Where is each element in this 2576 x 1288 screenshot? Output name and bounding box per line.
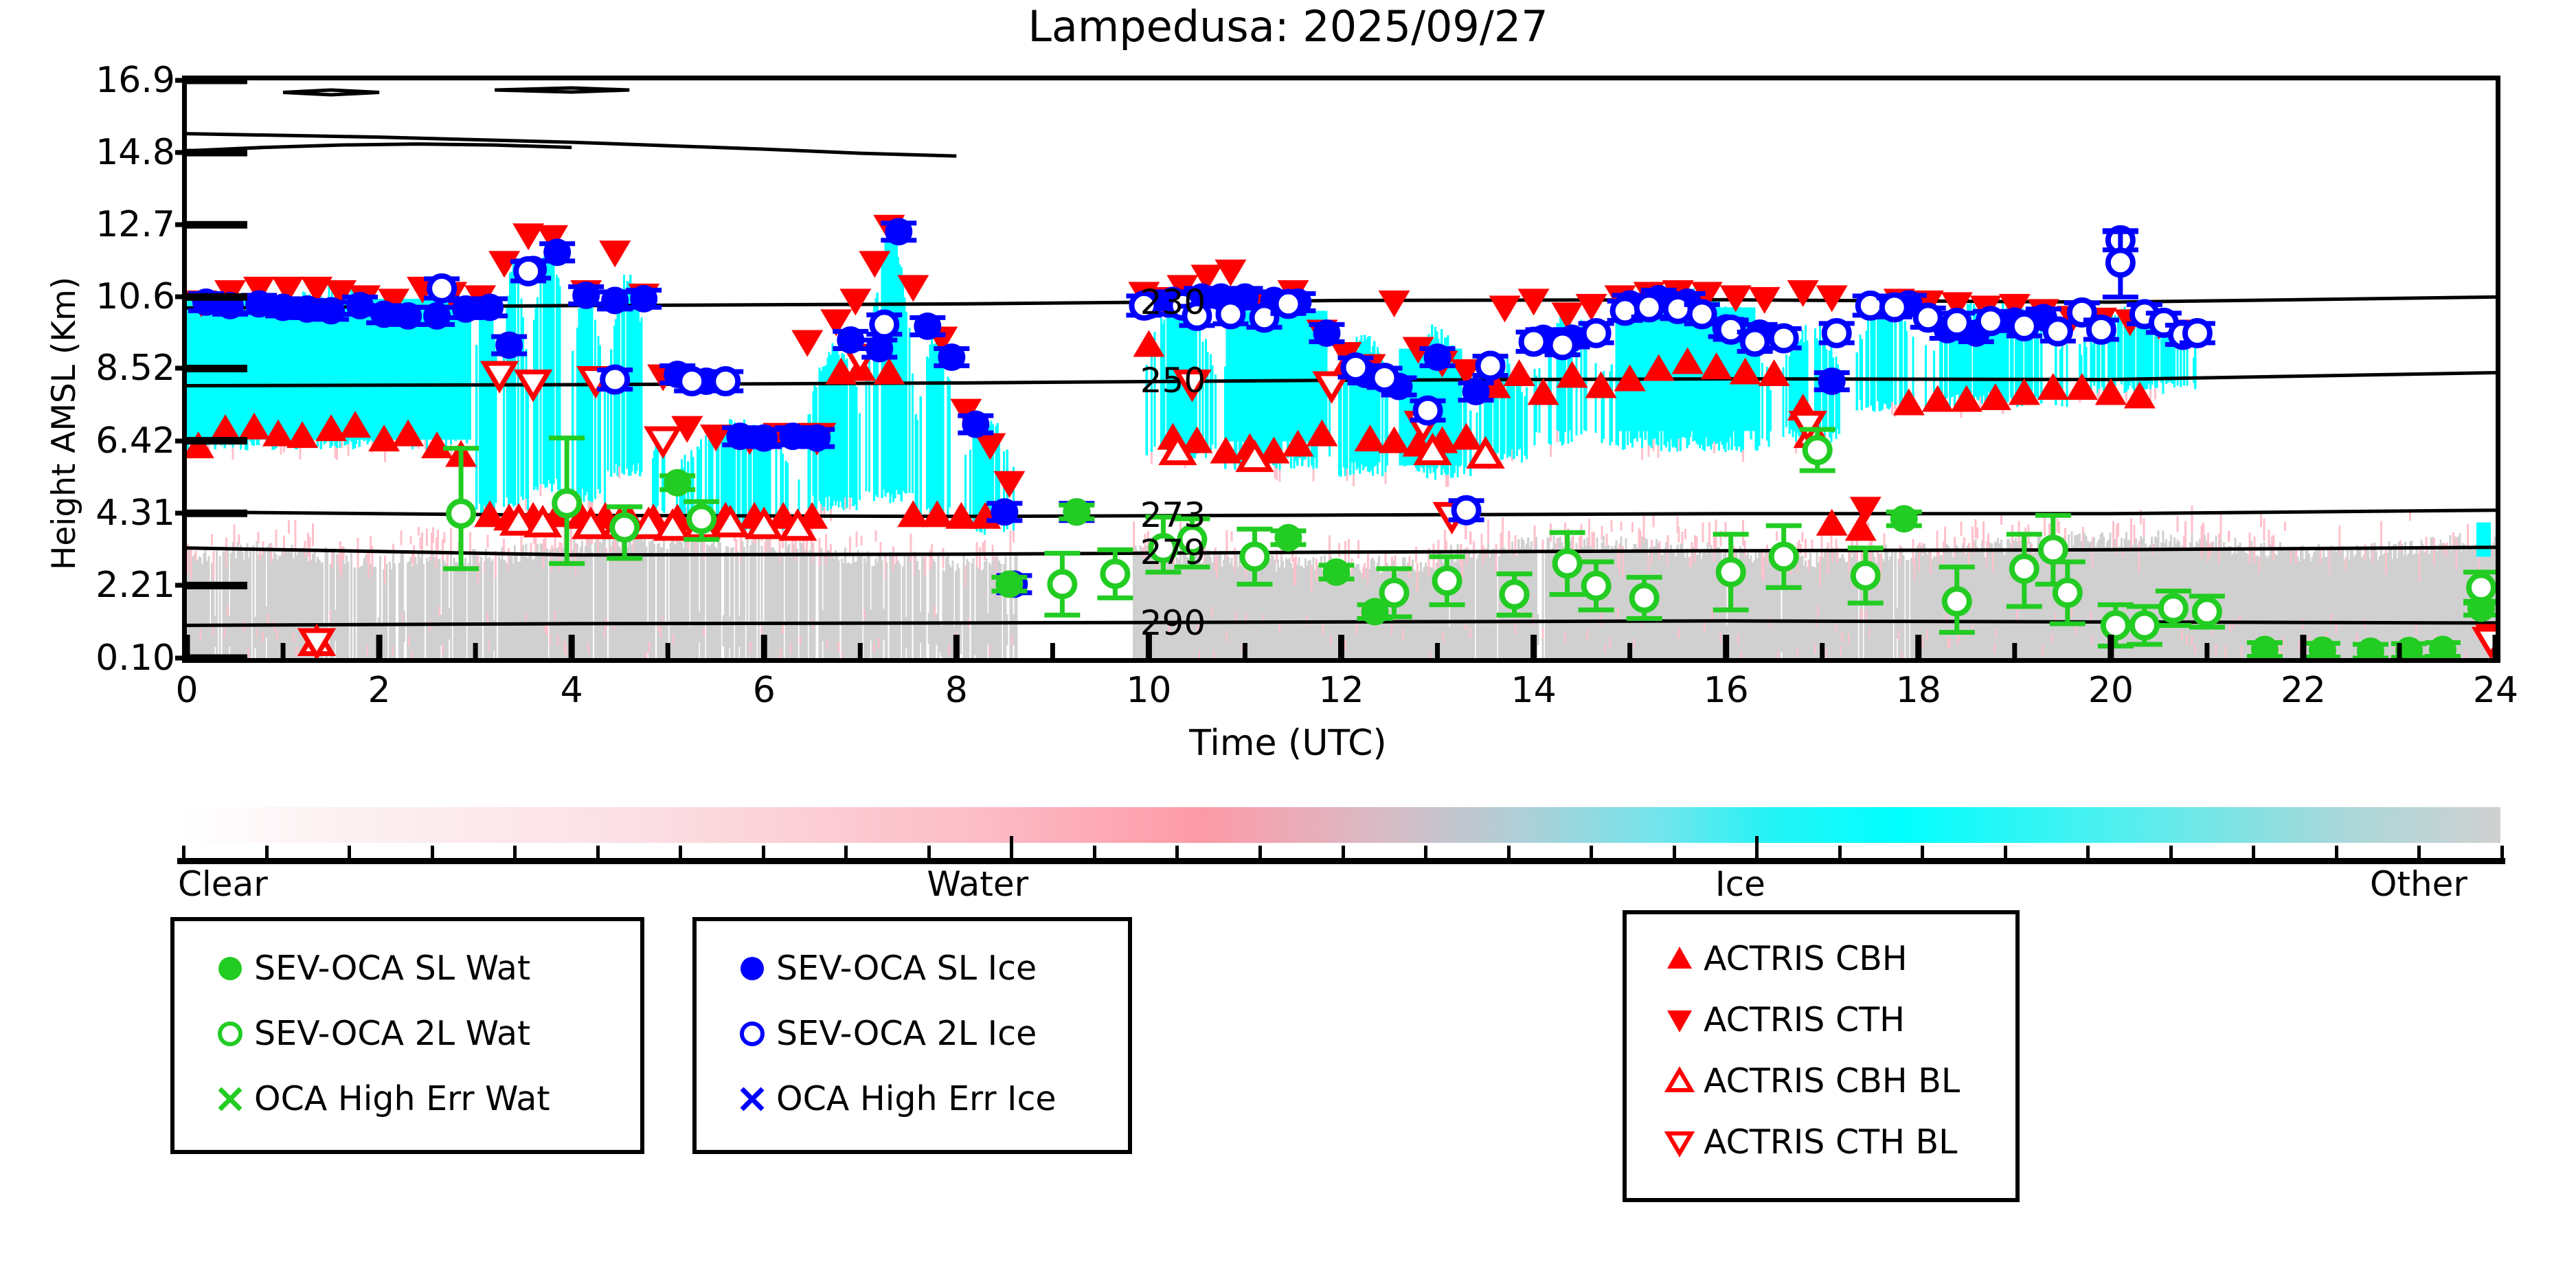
legend-item-label: ACTRIS CBH — [1704, 939, 1908, 978]
marker-open-circle — [872, 312, 896, 337]
isotherm-label-290: 290 — [1140, 603, 1206, 643]
legend-marker-x-icon — [728, 1080, 776, 1118]
marker-filled-circle — [995, 570, 1023, 598]
marker-triangle-down — [599, 240, 631, 267]
marker-open-circle — [1772, 544, 1796, 569]
marker-open-circle — [1916, 305, 1941, 330]
x-tick-label: 0 — [175, 670, 198, 711]
colorbar-label-water: Water — [927, 864, 1028, 904]
marker-open-circle — [2195, 599, 2219, 624]
marker-open-circle — [1382, 580, 1407, 605]
marker-filled-circle — [837, 326, 864, 354]
legend-item-label: SEV-OCA 2L Ice — [776, 1014, 1037, 1053]
marker-open-circle — [429, 276, 454, 301]
x-tick-label: 2 — [368, 670, 391, 711]
marker-open-circle — [2103, 613, 2128, 637]
marker-open-circle — [1690, 302, 1715, 326]
marker-open-circle — [1276, 291, 1300, 316]
y-tick-label: 14.8 — [31, 132, 175, 173]
marker-open-circle — [1613, 298, 1638, 323]
marker-triangle-up — [1845, 514, 1877, 541]
marker-open-circle — [1584, 321, 1609, 346]
marker-triangle-up — [1133, 330, 1164, 357]
legend-item[interactable]: SEV-OCA SL Wat — [206, 949, 530, 988]
marker-open-circle — [2055, 580, 2080, 605]
x-tick-label: 22 — [2281, 670, 2326, 711]
upper-contour-2 — [283, 90, 379, 95]
x-tick-label: 6 — [753, 670, 776, 711]
legend-item-label: SEV-OCA 2L Wat — [254, 1014, 530, 1053]
legend-marker-open-triangle-up-icon — [1656, 1062, 1704, 1100]
y-tick-label: 10.6 — [31, 276, 175, 317]
legend-item[interactable]: SEV-OCA SL Ice — [728, 949, 1037, 988]
legend-ice: SEV-OCA SL IceSEV-OCA 2L IceOCA High Err… — [692, 917, 1132, 1154]
marker-open-circle — [1478, 353, 1503, 378]
marker-open-circle — [1978, 308, 2003, 333]
marker-filled-circle — [803, 425, 831, 452]
marker-open-circle — [2132, 613, 2157, 637]
marker-filled-circle — [914, 313, 941, 340]
marker-open-circle — [1719, 317, 1743, 342]
marker-filled-circle — [192, 289, 220, 316]
marker-filled-circle — [1462, 378, 1490, 405]
marker-triangle-down — [1787, 280, 1819, 307]
marker-open-circle — [2108, 250, 2133, 275]
x-axis-label: Time (UTC) — [0, 723, 2576, 764]
marker-open-circle — [1584, 574, 1609, 598]
legend-item-label: SEV-OCA SL Ice — [776, 949, 1037, 988]
legend-item-label: OCA High Err Wat — [254, 1079, 550, 1118]
y-tick-label: 0.10 — [31, 637, 175, 679]
marker-open-circle — [2041, 537, 2066, 562]
marker-open-circle — [1805, 438, 1830, 462]
marker-filled-circle — [630, 285, 657, 313]
legend-actris: ACTRIS CBHACTRIS CTHACTRIS CBH BLACTRIS … — [1623, 910, 2020, 1202]
marker-open-circle — [1416, 398, 1440, 423]
marker-open-circle — [2012, 556, 2037, 581]
marker-open-circle — [449, 501, 473, 526]
legend-item-label: ACTRIS CTH BL — [1704, 1122, 1957, 1162]
colorbar-label-other: Other — [2370, 864, 2467, 904]
marker-open-circle — [1824, 321, 1849, 346]
y-tick-label: 4.31 — [31, 493, 175, 534]
marker-open-circle — [516, 259, 541, 284]
legend-item-label: SEV-OCA SL Wat — [254, 949, 530, 988]
marker-open-circle — [1242, 544, 1267, 569]
marker-open-circle — [1372, 365, 1397, 390]
isotherm-label-273: 273 — [1140, 495, 1206, 535]
colorbar-ticks — [182, 807, 2500, 863]
isotherm-label-279: 279 — [1140, 532, 1206, 572]
x-tick-label: 4 — [561, 670, 583, 711]
marker-open-circle — [1435, 568, 1460, 593]
marker-open-circle — [2089, 317, 2114, 342]
legend-item-label: OCA High Err Ice — [776, 1079, 1057, 1118]
marker-triangle-up — [1893, 389, 1925, 416]
marker-open-circle — [1050, 572, 1074, 596]
isotherm-label-230: 230 — [1140, 282, 1206, 322]
legend-water: SEV-OCA SL WatSEV-OCA 2L WatOCA High Err… — [170, 917, 644, 1154]
legend-marker-open-triangle-down-icon — [1656, 1123, 1704, 1162]
marker-open-circle — [1719, 560, 1743, 585]
marker-open-circle — [1550, 332, 1575, 357]
marker-open-circle — [1218, 302, 1243, 326]
marker-open-circle — [2161, 596, 2186, 620]
x-tick-label: 24 — [2473, 670, 2518, 711]
marker-filled-circle — [543, 238, 571, 266]
legend-item[interactable]: ACTRIS CTH BL — [1656, 1122, 1957, 1162]
x-tick-label: 10 — [1126, 670, 1171, 711]
upper-contour-3 — [495, 88, 629, 92]
x-tick-label: 8 — [945, 670, 968, 711]
marker-triangle-down — [1850, 497, 1882, 523]
marker-filled-circle — [1322, 558, 1350, 586]
marker-filled-circle — [476, 293, 504, 321]
marker-open-circle — [2469, 575, 2494, 600]
marker-filled-circle — [1274, 524, 1302, 552]
colorbar-label-clear: Clear — [178, 864, 268, 904]
marker-triangle-down — [1576, 294, 1607, 321]
marker-open-circle — [612, 515, 637, 540]
marker-open-circle — [679, 369, 704, 394]
marker-filled-circle — [1313, 319, 1340, 347]
y-tick-label: 6.42 — [31, 420, 175, 462]
marker-open-circle — [1555, 551, 1580, 576]
marker-filled-circle — [1818, 368, 1846, 395]
marker-filled-circle — [245, 290, 273, 317]
legend-marker-open-circle-icon — [206, 1015, 254, 1053]
marker-filled-circle — [962, 411, 989, 438]
legend-marker-x-icon — [206, 1080, 254, 1118]
marker-open-circle — [1502, 582, 1527, 607]
y-tick-label: 8.52 — [31, 348, 175, 389]
cloud-mask-layer — [187, 233, 2496, 658]
y-axis-tick-labels: 0.102.214.316.428.5210.612.714.816.9 — [21, 0, 175, 1288]
marker-open-circle — [1945, 310, 1969, 335]
marker-open-circle — [1853, 563, 1878, 588]
marker-filled-circle — [866, 335, 893, 362]
marker-filled-circle — [495, 331, 523, 359]
marker-open-circle — [2185, 321, 2210, 346]
y-tick-label: 2.21 — [31, 565, 175, 606]
marker-open-circle — [1103, 561, 1127, 586]
marker-open-circle — [1772, 326, 1796, 350]
legend-item[interactable]: OCA High Err Wat — [206, 1079, 550, 1118]
legend-item[interactable]: ACTRIS CTH — [1656, 1000, 1905, 1039]
marker-open-circle — [2012, 314, 2037, 339]
marker-open-circle — [1632, 585, 1657, 610]
marker-filled-circle — [1890, 505, 1918, 532]
legend-item[interactable]: OCA High Err Ice — [728, 1079, 1057, 1118]
y-tick-label: 12.7 — [31, 204, 175, 245]
marker-open-circle — [554, 491, 579, 516]
legend-item[interactable]: ACTRIS CBH BL — [1656, 1061, 1960, 1100]
marker-triangle-down — [1379, 291, 1410, 317]
marker-filled-circle — [1063, 498, 1090, 526]
marker-filled-circle — [601, 286, 629, 314]
isotherm-label-250: 250 — [1140, 361, 1206, 400]
marker-open-circle — [1945, 589, 1969, 613]
marker-open-circle — [602, 368, 627, 392]
marker-filled-circle — [1424, 343, 1451, 371]
marker-open-circle — [1882, 295, 1907, 319]
marker-open-triangle-down — [648, 429, 678, 454]
marker-filled-circle — [938, 343, 965, 371]
marker-open-circle — [1252, 305, 1276, 330]
marker-triangle-down — [1518, 289, 1550, 315]
legend-item[interactable]: ACTRIS CBH — [1656, 939, 1908, 978]
plot-canvas — [187, 80, 2496, 658]
marker-open-circle — [713, 369, 738, 394]
marker-triangle-down — [1214, 260, 1246, 286]
marker-open-circle — [1743, 329, 1767, 354]
colorbar-axis-line — [177, 858, 2505, 864]
x-tick-label: 16 — [1704, 670, 1749, 711]
marker-filled-circle — [317, 297, 345, 324]
marker-open-circle — [1637, 295, 1662, 319]
marker-open-circle — [1666, 297, 1691, 321]
legend-item[interactable]: SEV-OCA 2L Wat — [206, 1014, 530, 1053]
marker-filled-circle — [572, 282, 600, 309]
cloud-mask-plot — [182, 76, 2500, 663]
page-title: Lampedusa: 2025/09/27 — [0, 1, 2576, 52]
marker-triangle-down — [791, 330, 823, 357]
legend-marker-open-circle-icon — [728, 1015, 776, 1053]
marker-filled-circle — [394, 302, 422, 330]
legend-item-label: ACTRIS CTH — [1704, 1000, 1905, 1039]
marker-open-circle — [689, 506, 714, 531]
x-tick-label: 12 — [1318, 670, 1364, 711]
marker-open-circle — [1454, 498, 1479, 523]
marker-filled-circle — [750, 425, 778, 452]
marker-filled-circle — [885, 218, 912, 245]
legend-marker-filled-triangle-up-icon — [1656, 940, 1704, 978]
plot-svg — [187, 80, 2496, 658]
marker-filled-circle — [991, 498, 1018, 526]
legend-item-label: ACTRIS CBH BL — [1704, 1061, 1960, 1100]
marker-open-circle — [1522, 329, 1546, 354]
x-tick-label: 20 — [2088, 670, 2134, 711]
x-tick-label: 14 — [1511, 670, 1556, 711]
marker-filled-circle — [423, 302, 451, 330]
x-tick-label: 18 — [1896, 670, 1941, 711]
marker-filled-circle — [664, 469, 691, 497]
legend-marker-filled-circle-icon — [206, 949, 254, 988]
y-tick-label: 16.9 — [31, 60, 175, 101]
legend-marker-filled-triangle-down-icon — [1656, 1001, 1704, 1039]
legend-marker-filled-circle-icon — [728, 949, 776, 988]
marker-open-circle — [1344, 355, 1368, 380]
colorbar-label-ice: Ice — [1715, 864, 1765, 904]
legend-item[interactable]: SEV-OCA 2L Ice — [728, 1014, 1037, 1053]
marker-triangle-down — [1489, 295, 1521, 322]
